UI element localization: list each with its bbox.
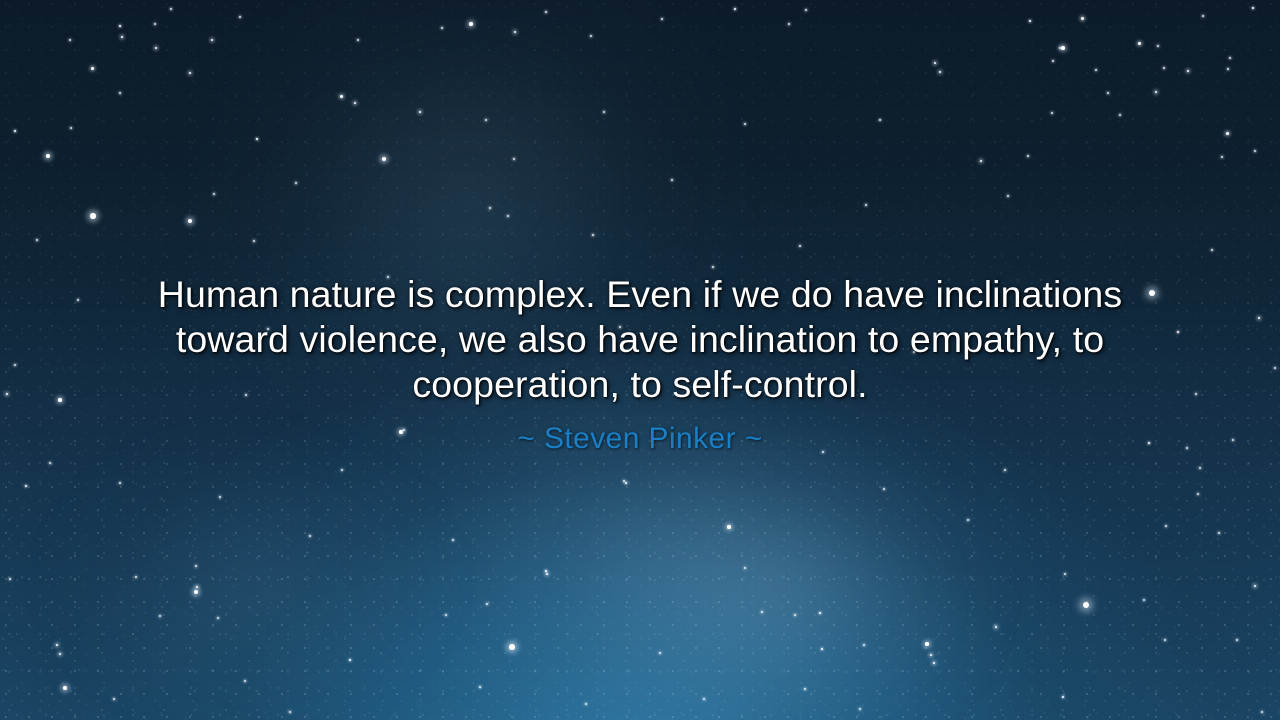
star xyxy=(671,179,673,181)
star xyxy=(980,160,983,163)
star xyxy=(727,525,730,528)
quote-line-3: cooperation, to self-control. xyxy=(60,362,1220,407)
star xyxy=(545,11,547,13)
star xyxy=(1254,585,1257,588)
star xyxy=(119,25,121,27)
star xyxy=(939,71,942,74)
star xyxy=(1157,45,1159,47)
star xyxy=(934,62,937,65)
star xyxy=(121,36,124,39)
star xyxy=(712,266,714,268)
star xyxy=(590,35,592,37)
star xyxy=(1083,602,1089,608)
star xyxy=(1254,150,1256,152)
star xyxy=(1236,639,1238,641)
star xyxy=(821,648,823,650)
star xyxy=(479,686,481,688)
star xyxy=(56,644,59,647)
star xyxy=(49,462,51,464)
star xyxy=(36,239,38,241)
star xyxy=(196,586,199,589)
star xyxy=(1226,132,1229,135)
star xyxy=(195,565,197,567)
star xyxy=(14,130,16,132)
quote-wallpaper: Human nature is complex. Even if we do h… xyxy=(0,0,1280,720)
star xyxy=(309,535,311,537)
star xyxy=(1029,20,1031,22)
star xyxy=(244,680,246,682)
star xyxy=(469,22,472,25)
star xyxy=(1107,92,1109,94)
star xyxy=(1138,42,1141,45)
star xyxy=(452,539,454,541)
star xyxy=(219,496,221,498)
star xyxy=(865,204,867,206)
star xyxy=(340,95,343,98)
quote-attribution: ~ Steven Pinker ~ xyxy=(60,421,1220,457)
star xyxy=(883,488,885,490)
star xyxy=(859,708,861,710)
star xyxy=(879,119,881,121)
quote-line-2: toward violence, we also have inclinatio… xyxy=(60,317,1220,362)
star xyxy=(1064,573,1066,575)
star xyxy=(925,642,928,645)
star xyxy=(9,578,11,580)
star xyxy=(744,567,746,569)
star xyxy=(703,698,705,700)
star xyxy=(341,469,343,471)
star xyxy=(1081,17,1084,20)
star xyxy=(159,615,161,617)
star xyxy=(545,570,547,572)
star xyxy=(485,119,487,121)
star xyxy=(1165,525,1167,527)
star xyxy=(1095,69,1097,71)
star xyxy=(1202,15,1204,17)
star xyxy=(253,240,255,242)
star xyxy=(119,92,121,94)
star xyxy=(1218,532,1220,534)
star xyxy=(213,193,215,195)
star xyxy=(1004,469,1006,471)
star xyxy=(933,662,936,665)
star xyxy=(1221,156,1223,158)
star xyxy=(1252,7,1254,9)
quote-block: Human nature is complex. Even if we do h… xyxy=(0,272,1280,457)
star xyxy=(1119,114,1121,116)
star xyxy=(217,617,219,619)
star xyxy=(70,127,72,129)
star xyxy=(211,39,214,42)
star xyxy=(239,16,241,18)
star xyxy=(189,72,192,75)
star xyxy=(592,234,594,236)
star xyxy=(63,686,67,690)
star xyxy=(289,711,291,713)
star xyxy=(256,138,258,140)
star xyxy=(135,576,137,578)
star xyxy=(1211,249,1213,251)
star xyxy=(1199,467,1201,469)
star xyxy=(819,612,821,614)
star xyxy=(659,652,661,654)
star xyxy=(441,27,443,29)
star xyxy=(995,626,998,629)
star xyxy=(1261,711,1263,713)
star xyxy=(546,573,549,576)
star xyxy=(513,158,515,160)
star xyxy=(445,614,447,616)
star xyxy=(46,154,51,159)
star xyxy=(1229,57,1231,59)
star xyxy=(194,590,198,594)
star xyxy=(188,219,192,223)
star xyxy=(1052,60,1054,62)
star xyxy=(603,111,605,113)
star xyxy=(799,245,801,247)
star xyxy=(930,654,933,657)
star xyxy=(354,102,357,105)
star xyxy=(419,111,422,114)
star xyxy=(1155,91,1158,94)
star xyxy=(349,659,351,661)
star xyxy=(761,611,763,613)
star xyxy=(625,482,627,484)
star xyxy=(170,8,172,10)
star xyxy=(90,213,95,218)
star xyxy=(1163,67,1165,69)
star xyxy=(91,67,94,70)
star xyxy=(744,123,746,125)
quote-line-1: Human nature is complex. Even if we do h… xyxy=(60,272,1220,317)
star xyxy=(967,519,969,521)
star xyxy=(734,8,736,10)
star xyxy=(794,614,796,616)
star xyxy=(382,157,386,161)
star xyxy=(357,39,359,41)
star xyxy=(1197,493,1199,495)
star xyxy=(585,703,587,705)
star xyxy=(113,698,115,700)
star xyxy=(661,18,663,20)
star xyxy=(1164,639,1166,641)
star xyxy=(805,9,807,11)
star xyxy=(69,39,71,41)
star xyxy=(1143,599,1145,601)
star xyxy=(1227,68,1229,70)
star xyxy=(489,207,491,209)
star xyxy=(514,31,517,34)
star xyxy=(59,653,62,656)
star xyxy=(507,215,509,217)
star xyxy=(863,644,865,646)
star xyxy=(1062,696,1064,698)
star xyxy=(1051,112,1053,114)
star xyxy=(1027,155,1029,157)
star xyxy=(154,23,156,25)
star xyxy=(486,603,488,605)
star xyxy=(119,482,121,484)
star xyxy=(25,485,27,487)
star xyxy=(1187,70,1190,73)
star xyxy=(155,47,158,50)
star xyxy=(804,688,806,690)
star xyxy=(788,23,790,25)
star xyxy=(509,644,514,649)
star xyxy=(295,182,297,184)
star xyxy=(1061,46,1065,50)
star xyxy=(1007,195,1009,197)
